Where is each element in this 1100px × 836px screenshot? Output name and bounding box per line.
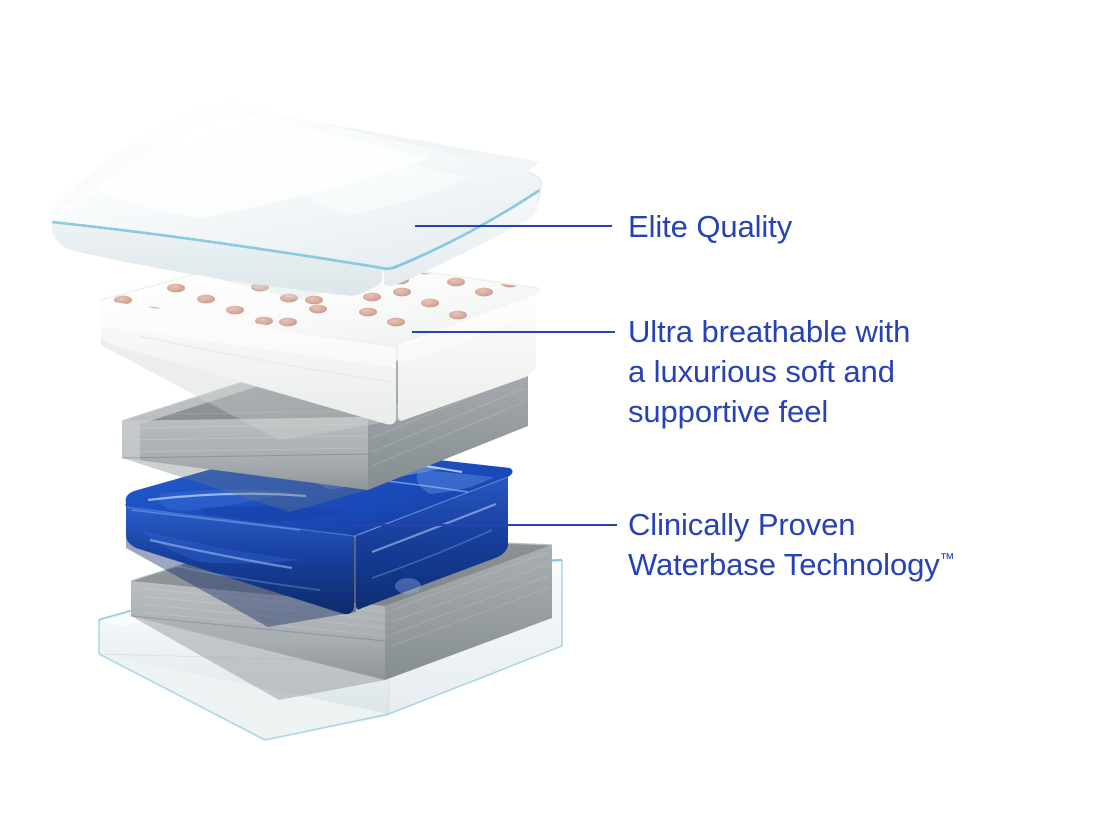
callout-clinically-proven-waterbase: Clinically Proven Waterbase Technology™ [628,505,955,585]
callout-waterbase-text: Clinically Proven Waterbase Technology [628,507,940,582]
trademark-symbol: ™ [940,551,955,568]
callout-elite-quality: Elite Quality [628,207,792,247]
layer-top-cover [52,102,542,300]
exploded-pillow-illustration [0,0,1100,836]
callout-ultra-breathable: Ultra breathable with a luxurious soft a… [628,312,910,432]
product-diagram: Elite Quality Ultra breathable with a lu… [0,0,1100,836]
